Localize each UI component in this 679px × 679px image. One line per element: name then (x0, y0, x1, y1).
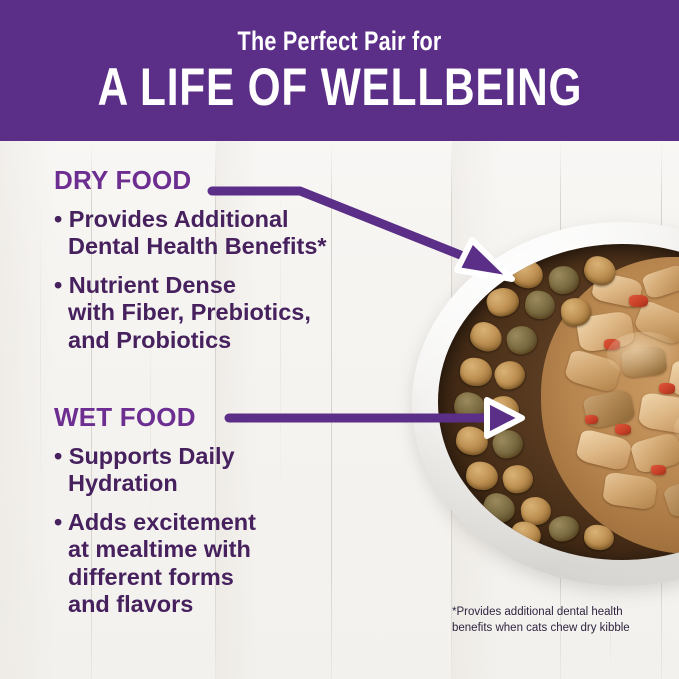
wet-food-section: WET FOOD • Supports Daily Hydration • Ad… (54, 404, 256, 630)
wet-food-heading: WET FOOD (54, 404, 256, 430)
bowl-interior (438, 244, 679, 560)
dry-food-bullet-1: • Provides Additional Dental Health Bene… (54, 206, 327, 261)
pet-food-bowl-photo (412, 222, 679, 586)
bullet-marker: • (54, 272, 62, 298)
banner-subtitle: The Perfect Pair for (237, 28, 441, 55)
infographic-canvas: The Perfect Pair for A LIFE OF WELLBEING (0, 0, 679, 679)
wet-food-bullet-2-text: Adds excitement at mealtime with differe… (68, 509, 256, 617)
dry-food-bullet-2-text: Nutrient Dense with Fiber, Prebiotics, a… (68, 272, 311, 353)
wet-food-bullet-1: • Supports Daily Hydration (54, 443, 256, 498)
dry-food-bullet-1-text: Provides Additional Dental Health Benefi… (68, 206, 327, 259)
banner-title: A LIFE OF WELLBEING (97, 61, 582, 114)
header-banner: The Perfect Pair for A LIFE OF WELLBEING (0, 0, 679, 141)
dry-food-region (438, 244, 640, 560)
dry-food-bullet-2: • Nutrient Dense with Fiber, Prebiotics,… (54, 272, 327, 354)
bullet-marker: • (54, 509, 62, 535)
dry-food-heading: DRY FOOD (54, 167, 327, 193)
wet-food-bullet-1-text: Supports Daily Hydration (68, 443, 235, 496)
wet-food-bullet-2: • Adds excitement at mealtime with diffe… (54, 509, 256, 619)
bullet-marker: • (54, 443, 62, 469)
dry-food-section: DRY FOOD • Provides Additional Dental He… (54, 167, 327, 365)
footnote-disclaimer: *Provides additional dental health benef… (452, 605, 679, 636)
bullet-marker: • (54, 206, 62, 232)
